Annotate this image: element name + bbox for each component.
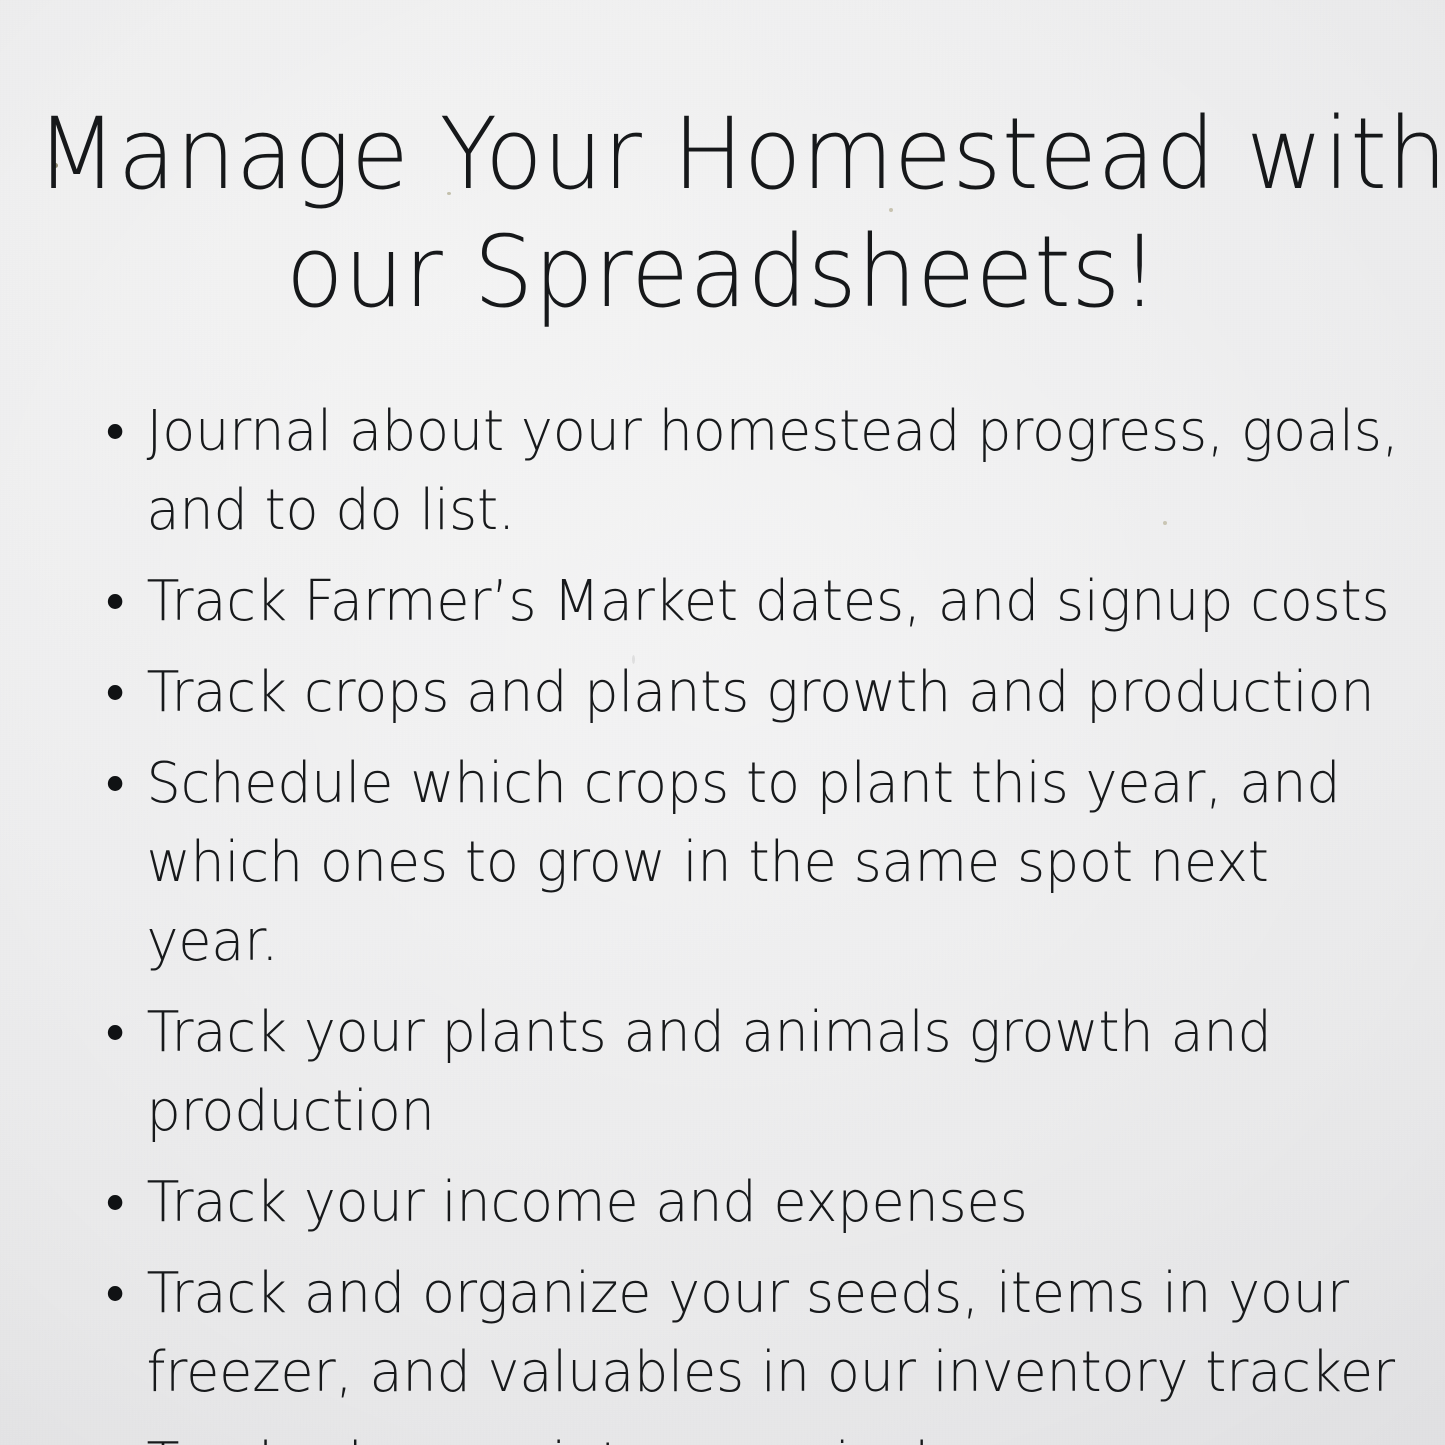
page-title-line-2: our Spreadsheets! <box>36 214 1409 332</box>
page-title-line-1: Manage Your Homestead with <box>36 96 1409 214</box>
list-item: Track when maintenance is due on your ma… <box>104 1424 1405 1445</box>
bullet-point-icon <box>108 1025 122 1040</box>
list-item-label: Track your plants and animals growth and… <box>146 993 1404 1151</box>
list-item-label: Schedule which crops to plant this year,… <box>146 744 1404 981</box>
poster-canvas: Manage Your Homestead with our Spreadshe… <box>0 0 1445 1445</box>
list-item-label: Track Farmer’s Market dates, and signup … <box>146 562 1404 641</box>
list-item-label: Track and organize your seeds, items in … <box>146 1254 1404 1412</box>
page-title: Manage Your Homestead with our Spreadshe… <box>0 96 1445 332</box>
feature-bullet-list: Journal about your homestead progress, g… <box>104 392 1445 1445</box>
list-item: Track and organize your seeds, items in … <box>104 1254 1405 1412</box>
list-item: Track crops and plants growth and produc… <box>104 653 1405 732</box>
list-item: Track your income and expenses <box>104 1163 1405 1242</box>
list-item-label: Track crops and plants growth and produc… <box>146 653 1404 732</box>
list-item-label: Track your income and expenses <box>146 1163 1404 1242</box>
bullet-point-icon <box>108 1195 122 1210</box>
list-item: Schedule which crops to plant this year,… <box>104 744 1405 981</box>
list-item-label: Journal about your homestead progress, g… <box>146 392 1404 550</box>
bullet-point-icon <box>108 1286 122 1301</box>
bullet-point-icon <box>108 424 122 439</box>
list-item: Journal about your homestead progress, g… <box>104 392 1405 550</box>
list-item-label: Track when maintenance is due on your ma… <box>146 1424 1404 1445</box>
bullet-point-icon <box>108 685 122 700</box>
list-item: Track Farmer’s Market dates, and signup … <box>104 562 1405 641</box>
bullet-point-icon <box>108 776 122 791</box>
bullet-point-icon <box>108 594 122 609</box>
list-item: Track your plants and animals growth and… <box>104 993 1405 1151</box>
